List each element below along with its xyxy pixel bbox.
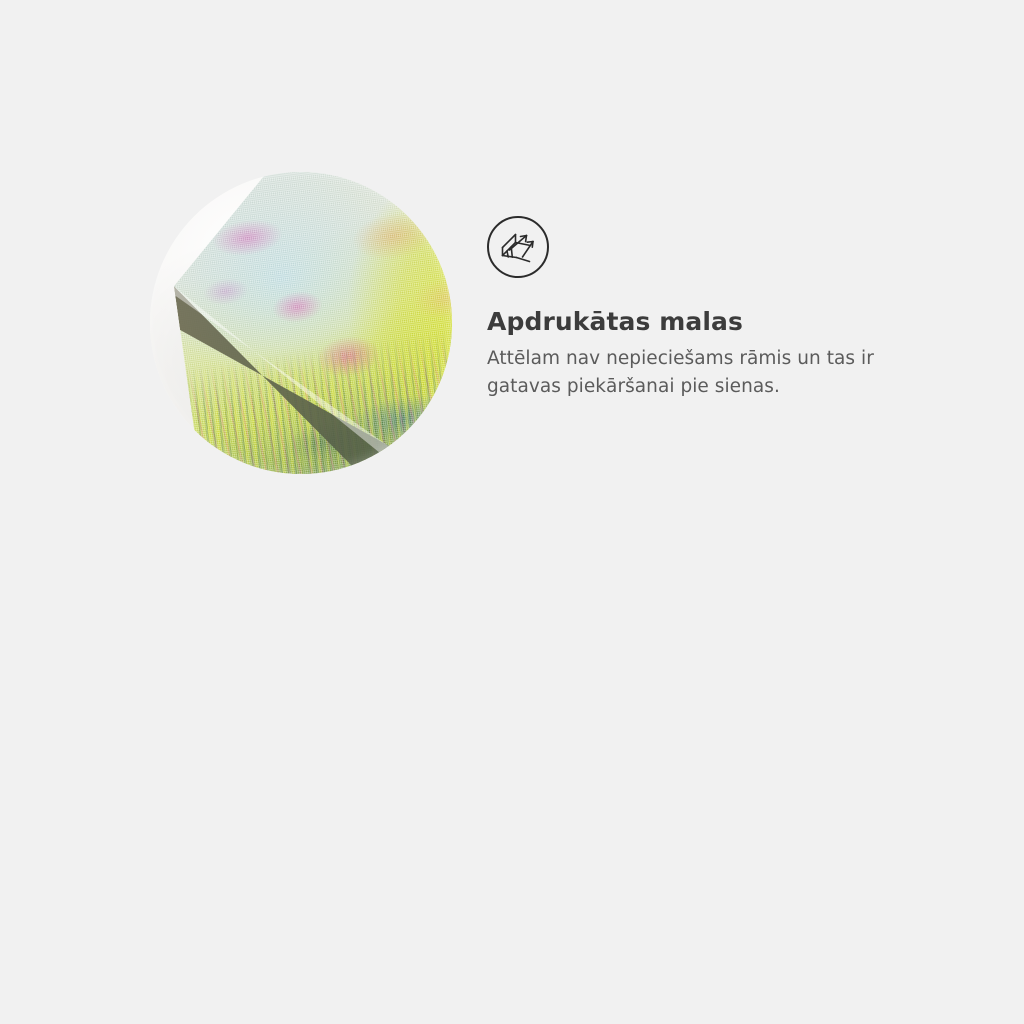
feature-description: Attēlam nav nepieciešams rāmis un tas ir… bbox=[487, 345, 949, 401]
product-image-canvas-print bbox=[150, 172, 452, 474]
feature-block-eco-product: EKO produkts Mūsu ražošanas procesā tiek… bbox=[0, 512, 1024, 1024]
feature-title: Apdrukātas malas bbox=[487, 307, 957, 337]
printed-edges-icon bbox=[487, 216, 549, 278]
feature-text-printed-edges: Apdrukātas malas Attēlam nav nepieciešam… bbox=[487, 216, 957, 401]
feature-block-printed-edges: Apdrukātas malas Attēlam nav nepieciešam… bbox=[0, 0, 1024, 512]
printed-edges-glyph bbox=[497, 226, 539, 268]
canvas-print-illustration bbox=[150, 172, 452, 474]
product-feature-page: Apdrukātas malas Attēlam nav nepieciešam… bbox=[0, 0, 1024, 1024]
